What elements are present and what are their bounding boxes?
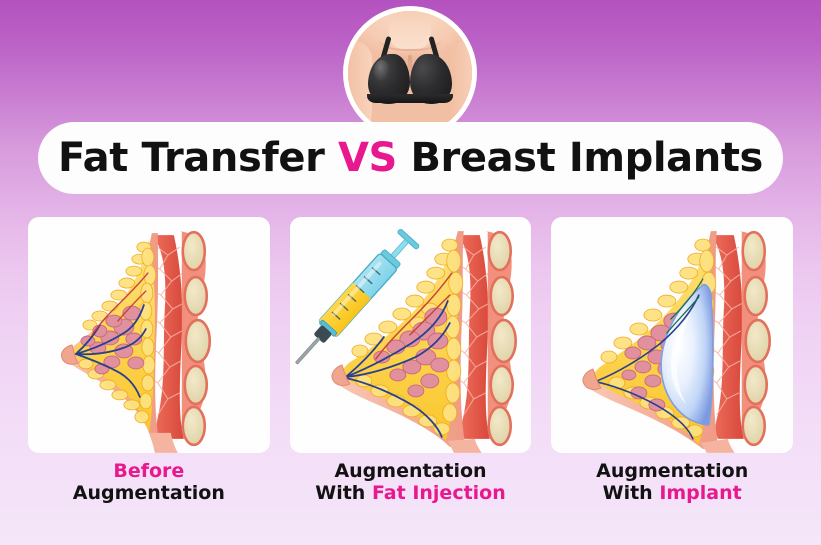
header-avatar-ring	[343, 6, 477, 140]
rib	[491, 320, 515, 362]
panel-card-augmentation-with-fat-injection[interactable]	[290, 217, 532, 453]
rib	[746, 320, 770, 362]
infographic-root: Fat Transfer VS Breast Implants	[0, 0, 821, 545]
caption-line-2-prefix: With	[315, 482, 372, 504]
avatar-bra	[369, 54, 451, 106]
breast-anatomy-cross-section-with-saline-implant	[551, 217, 793, 453]
page-title: Fat Transfer VS Breast Implants	[58, 135, 763, 181]
breast-anatomy-cross-section-normal	[28, 217, 270, 453]
caption-line-2: With Implant	[551, 482, 793, 504]
title-banner: Fat Transfer VS Breast Implants	[38, 122, 783, 194]
caption-line-1: Before	[28, 460, 270, 482]
syringe-needle	[295, 337, 320, 364]
rib	[488, 232, 510, 270]
caption-line-1: Augmentation	[290, 460, 532, 482]
rib	[743, 232, 765, 270]
rib	[185, 277, 207, 315]
caption-before-augmentation: Before Augmentation	[28, 460, 270, 504]
panel-card-before-augmentation[interactable]	[28, 217, 270, 453]
panel-card-augmentation-with-implant[interactable]	[551, 217, 793, 453]
rib	[743, 407, 765, 445]
caption-line-1: Augmentation	[551, 460, 793, 482]
rib-cage	[180, 231, 210, 445]
rib	[186, 320, 210, 362]
rib	[183, 407, 205, 445]
caption-line-2-highlight: Fat Injection	[372, 482, 506, 504]
avatar-bra-band	[367, 94, 453, 103]
caption-line-2-highlight: Implant	[659, 482, 741, 504]
panels-row	[28, 217, 793, 453]
captions-row: Before Augmentation Augmentation With Fa…	[28, 460, 793, 504]
rib	[745, 366, 767, 404]
title-part-2: Breast Implants	[397, 135, 763, 181]
avatar-bra-highlight	[374, 60, 390, 82]
rib	[490, 277, 512, 315]
caption-line-2: With Fat Injection	[290, 482, 532, 504]
female-torso-in-black-bra-avatar	[348, 11, 472, 135]
caption-augmentation-with-implant: Augmentation With Implant	[551, 460, 793, 504]
torso-lower-skin	[447, 439, 481, 453]
title-vs-highlight: VS	[338, 135, 397, 181]
title-part-1: Fat Transfer	[58, 135, 338, 181]
rib	[490, 366, 512, 404]
caption-line-2-prefix: With	[603, 482, 660, 504]
caption-line-2: Augmentation	[28, 482, 270, 504]
breast-anatomy-cross-section-with-syringe-fat-injection	[290, 217, 532, 453]
rib	[183, 232, 205, 270]
rib-cage	[485, 231, 515, 445]
rib	[488, 407, 510, 445]
rib-cage	[740, 231, 770, 445]
caption-augmentation-with-fat-injection: Augmentation With Fat Injection	[290, 460, 532, 504]
rib	[745, 277, 767, 315]
rib	[185, 366, 207, 404]
